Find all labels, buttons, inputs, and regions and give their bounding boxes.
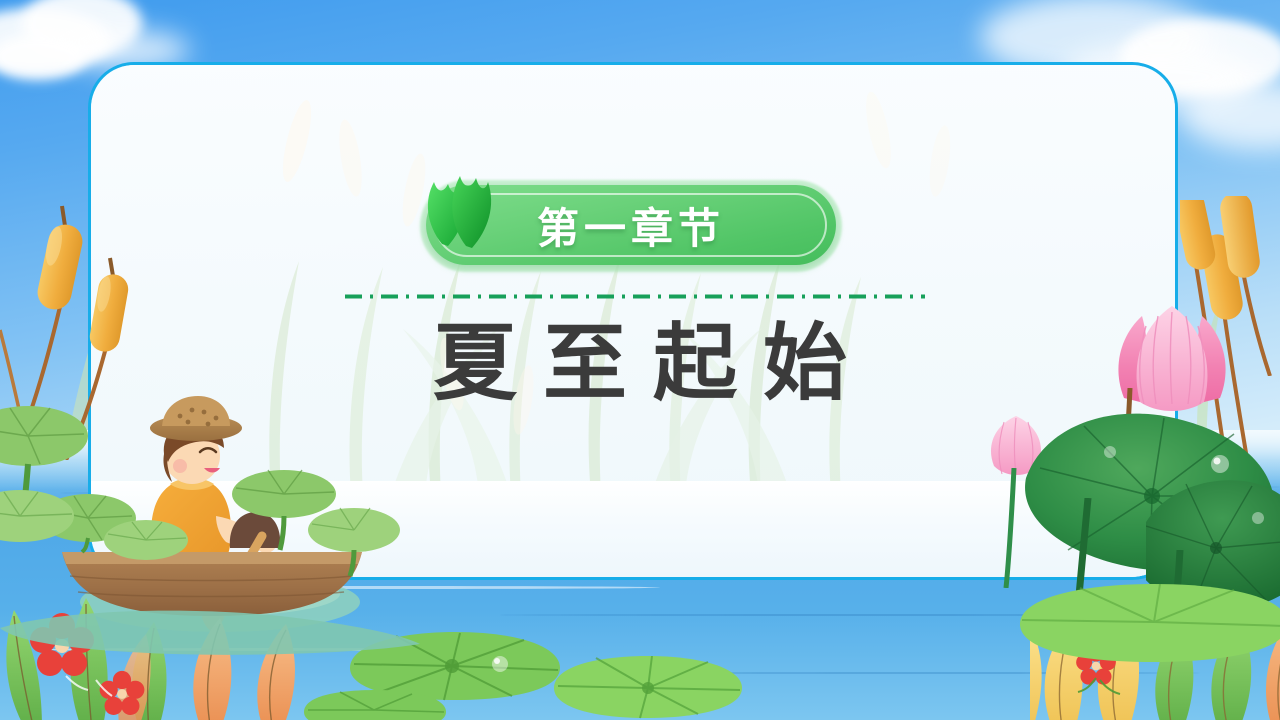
page-title: 夏至起始	[0, 318, 1280, 409]
chapter-badge[interactable]: 第一章节	[406, 166, 856, 272]
leaf-icon	[414, 166, 500, 252]
slide-canvas: 第一章节 夏至起始	[0, 0, 1280, 720]
dash-dot-divider	[345, 286, 925, 291]
